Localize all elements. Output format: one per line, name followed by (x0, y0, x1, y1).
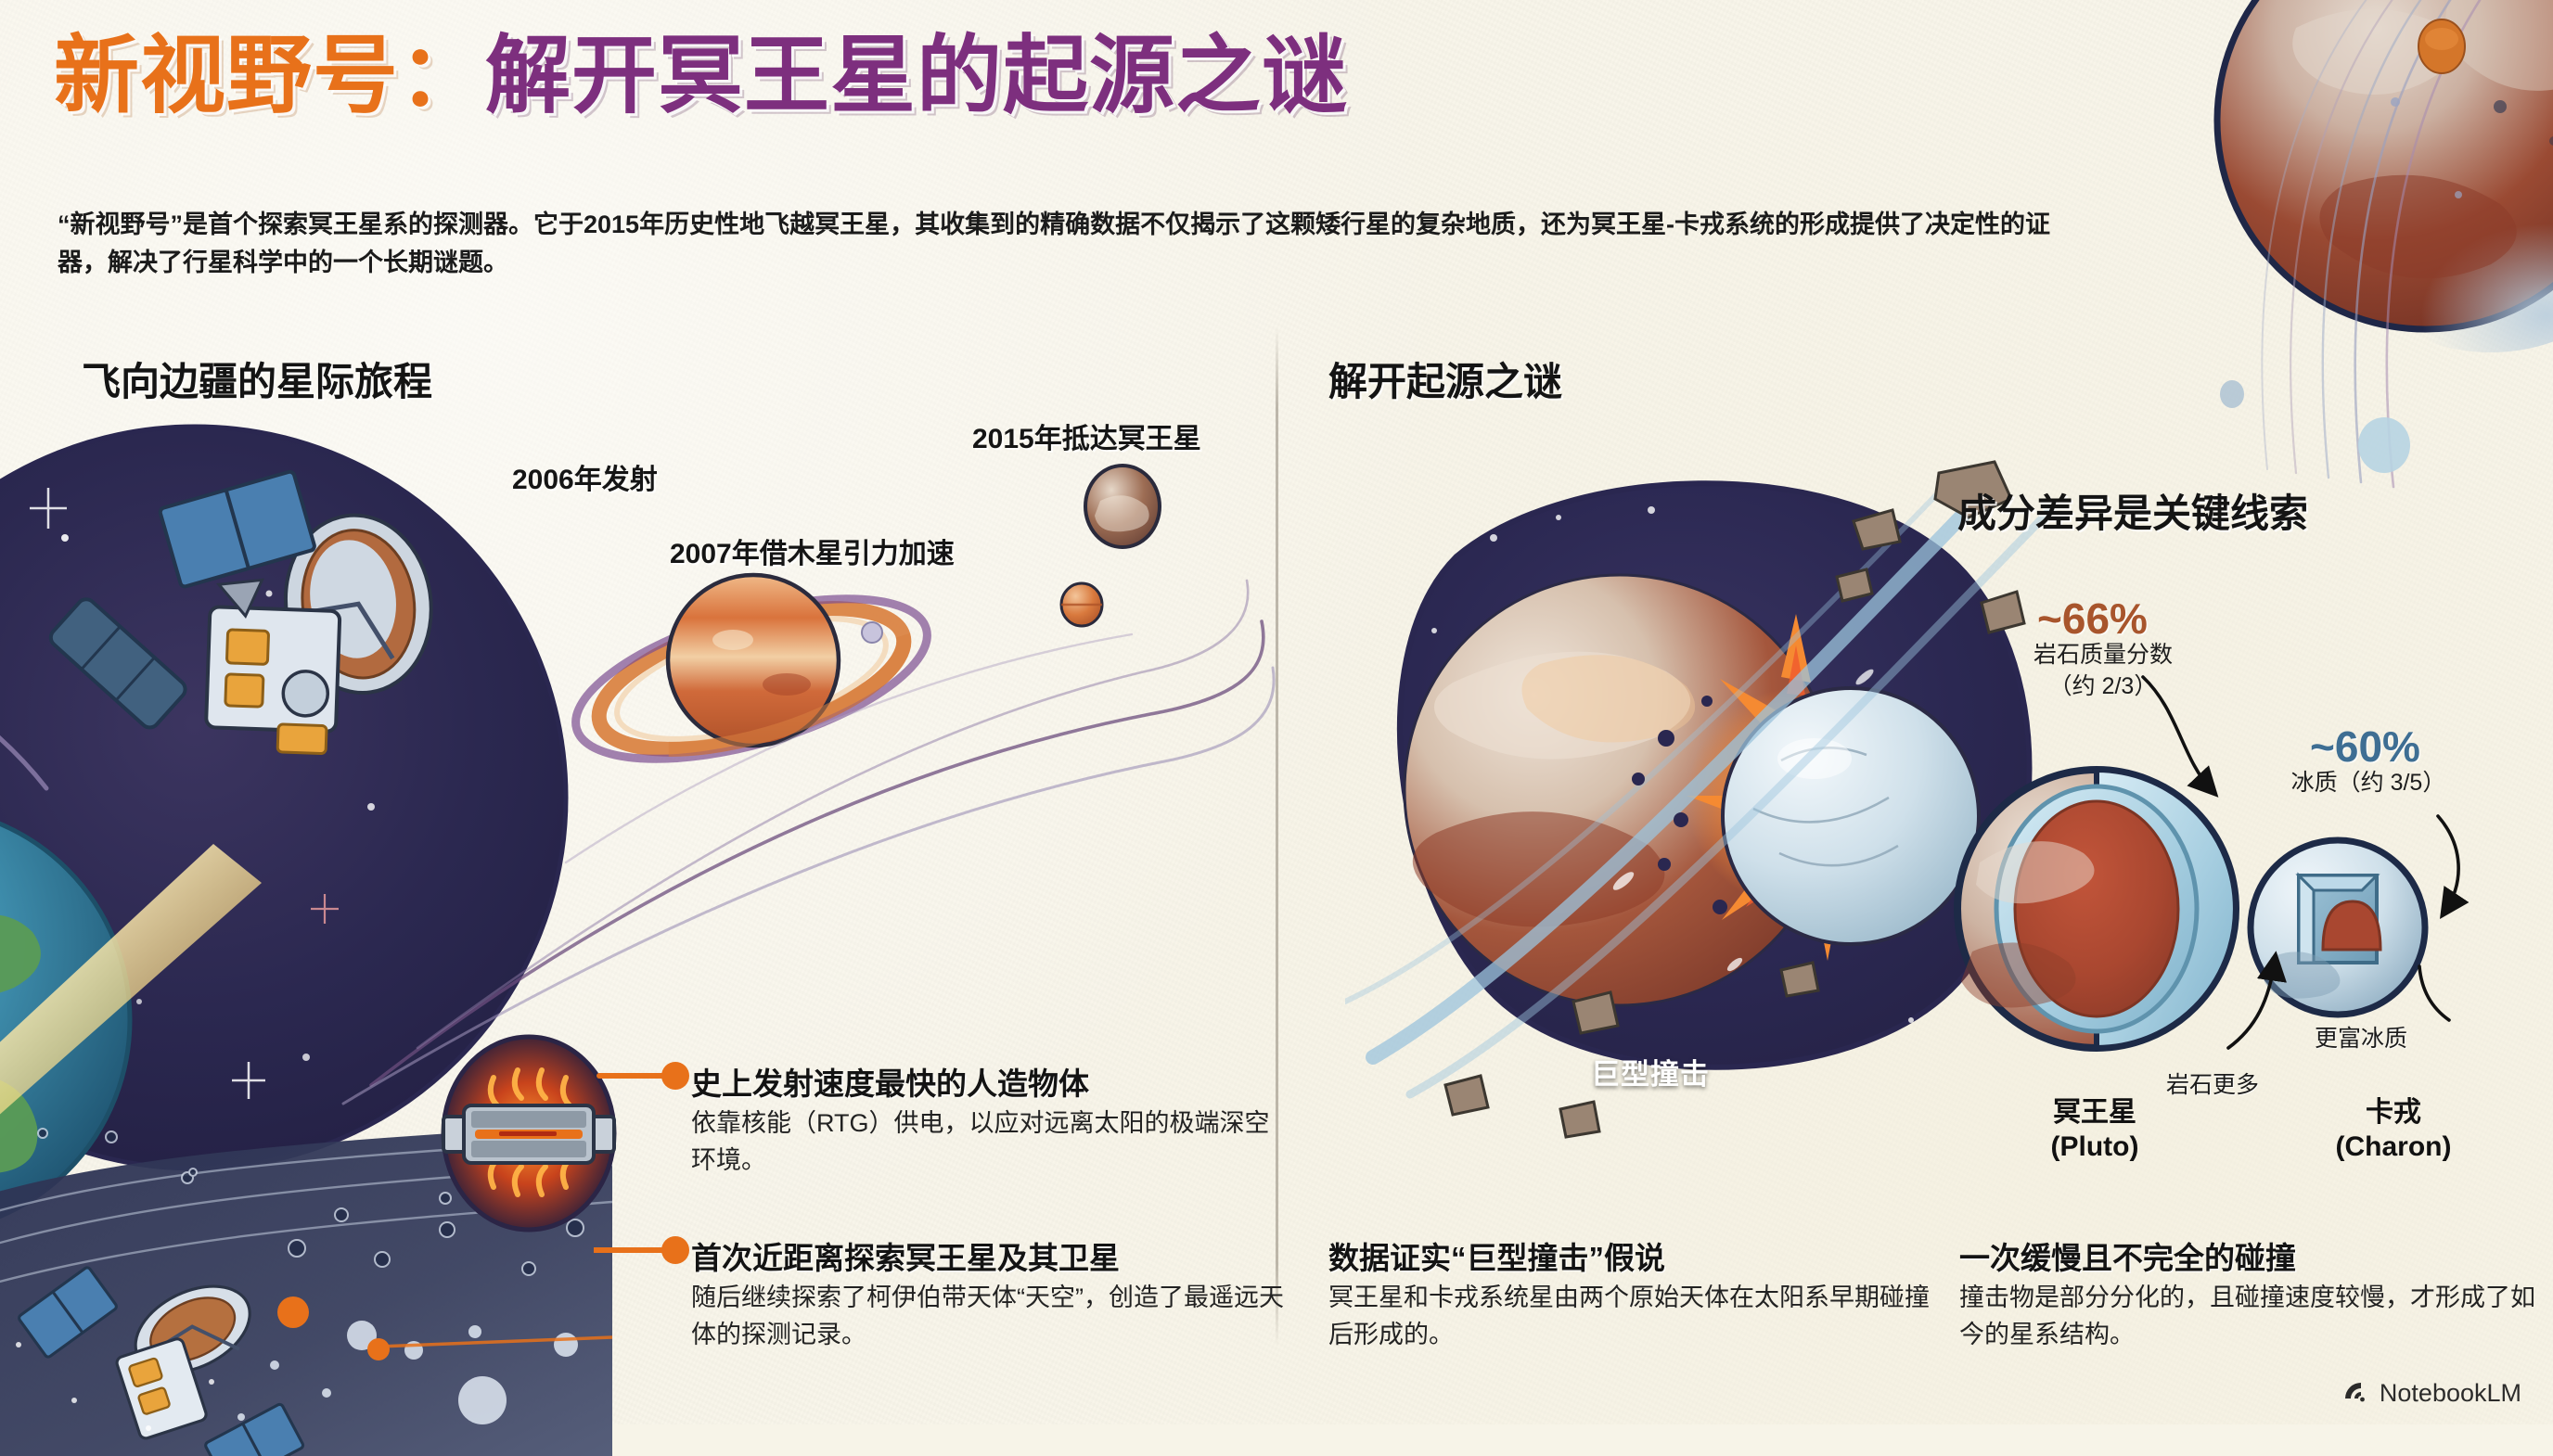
timeline-label-launch: 2006年发射 (512, 456, 658, 497)
right-bullet-1-body: 冥王星和卡戎系统星由两个原始天体在太阳系早期碰撞后形成的。 (1328, 1280, 1931, 1354)
infographic-stage: 新视野号：解开冥王星的起源之谜 “新视野号”是首个探索冥王星系的探测器。它于20… (0, 0, 2553, 1424)
pluto-rock-caption: 岩石质量分数 （约 2/3） (1987, 640, 2219, 703)
timeline-label-pluto-arrival: 2015年抵达冥王星 (972, 415, 1201, 456)
pluto-rock-caption-line2: （约 2/3） (2049, 673, 2158, 699)
body-label-pluto-cn: 冥王星 (2053, 1097, 2136, 1128)
notebooklm-watermark-text: NotebookLM (2380, 1379, 2521, 1408)
body-label-pluto: 冥王星 (Pluto) (2011, 1096, 2178, 1164)
page-title-part1: 新视野号： (54, 29, 485, 123)
page-title-part2: 解开冥王星的起源之谜 (485, 29, 1348, 123)
pluto-rock-percent: ~66% (2037, 594, 2148, 644)
right-bullet-2-title: 一次缓慢且不完全的碰撞 (1959, 1233, 2296, 1278)
annotation-rock-more: 岩石更多 (2166, 1066, 2259, 1100)
left-panel-heading: 飞向边疆的星际旅程 (82, 351, 432, 407)
page-subtitle: “新视野号”是首个探索冥王星系的探测器。它于2015年历史性地飞越冥王星，其收集… (58, 206, 2080, 282)
notebooklm-watermark: NotebookLM (2341, 1378, 2521, 1408)
arrival-bodies (1011, 436, 1289, 714)
body-label-charon: 卡戎 (Charon) (2301, 1096, 2486, 1164)
rtg-power-icon (427, 1031, 631, 1235)
kuiper-belt-illustration (0, 1066, 612, 1456)
body-label-charon-cn: 卡戎 (2366, 1097, 2421, 1128)
charon-ice-caption: 冰质（约 3/5） (2254, 768, 2482, 799)
composition-clue-heading: 成分差异是关键线索 (1957, 482, 2308, 539)
right-bullet-2-body: 撞击物是部分分化的，且碰撞速度较慢，才形成了如今的星系结构。 (1959, 1280, 2553, 1354)
impact-badge-label: 巨型撞击 (1591, 1051, 1710, 1092)
left-bullet-2-body: 随后继续探索了柯伊伯带天体“天空”，创造了最遥远天体的探测记录。 (691, 1280, 1285, 1354)
page-title: 新视野号：解开冥王星的起源之谜 (54, 32, 1348, 121)
pluto-hero-illustration (2185, 0, 2553, 362)
left-bullet-1-body: 依靠核能（RTG）供电，以应对远离太阳的极端深空环境。 (691, 1105, 1276, 1180)
left-bullet-2-title: 首次近距离探索冥王星及其卫星 (691, 1233, 1120, 1278)
composition-annotation-arrows (1930, 649, 2553, 1113)
pluto-cutaway-diagram (1948, 760, 2245, 1057)
right-bullet-1-title: 数据证实“巨型撞击”假说 (1328, 1233, 1665, 1278)
journey-illustration (0, 408, 714, 1224)
body-label-charon-en: (Charon) (2336, 1131, 2452, 1162)
annotation-ice-more: 更富冰质 (2315, 1020, 2407, 1054)
timeline-label-jupiter-assist: 2007年借木星引力加速 (670, 530, 955, 571)
giant-impact-illustration (1345, 445, 2078, 1150)
charon-ice-caption-line1: 冰质（约 3/5） (2291, 770, 2446, 796)
right-panel-heading: 解开起源之谜 (1328, 351, 1562, 407)
pluto-rock-caption-line1: 岩石质量分数 (2033, 642, 2173, 668)
body-label-pluto-en: (Pluto) (2051, 1131, 2139, 1162)
charon-cutaway-diagram (2245, 835, 2431, 1020)
charon-ice-percent: ~60% (2310, 722, 2420, 772)
panel-divider (1276, 326, 1278, 1347)
notebooklm-logo-icon (2341, 1378, 2370, 1408)
left-bullet-1-title: 史上发射速度最快的人造物体 (691, 1059, 1089, 1104)
